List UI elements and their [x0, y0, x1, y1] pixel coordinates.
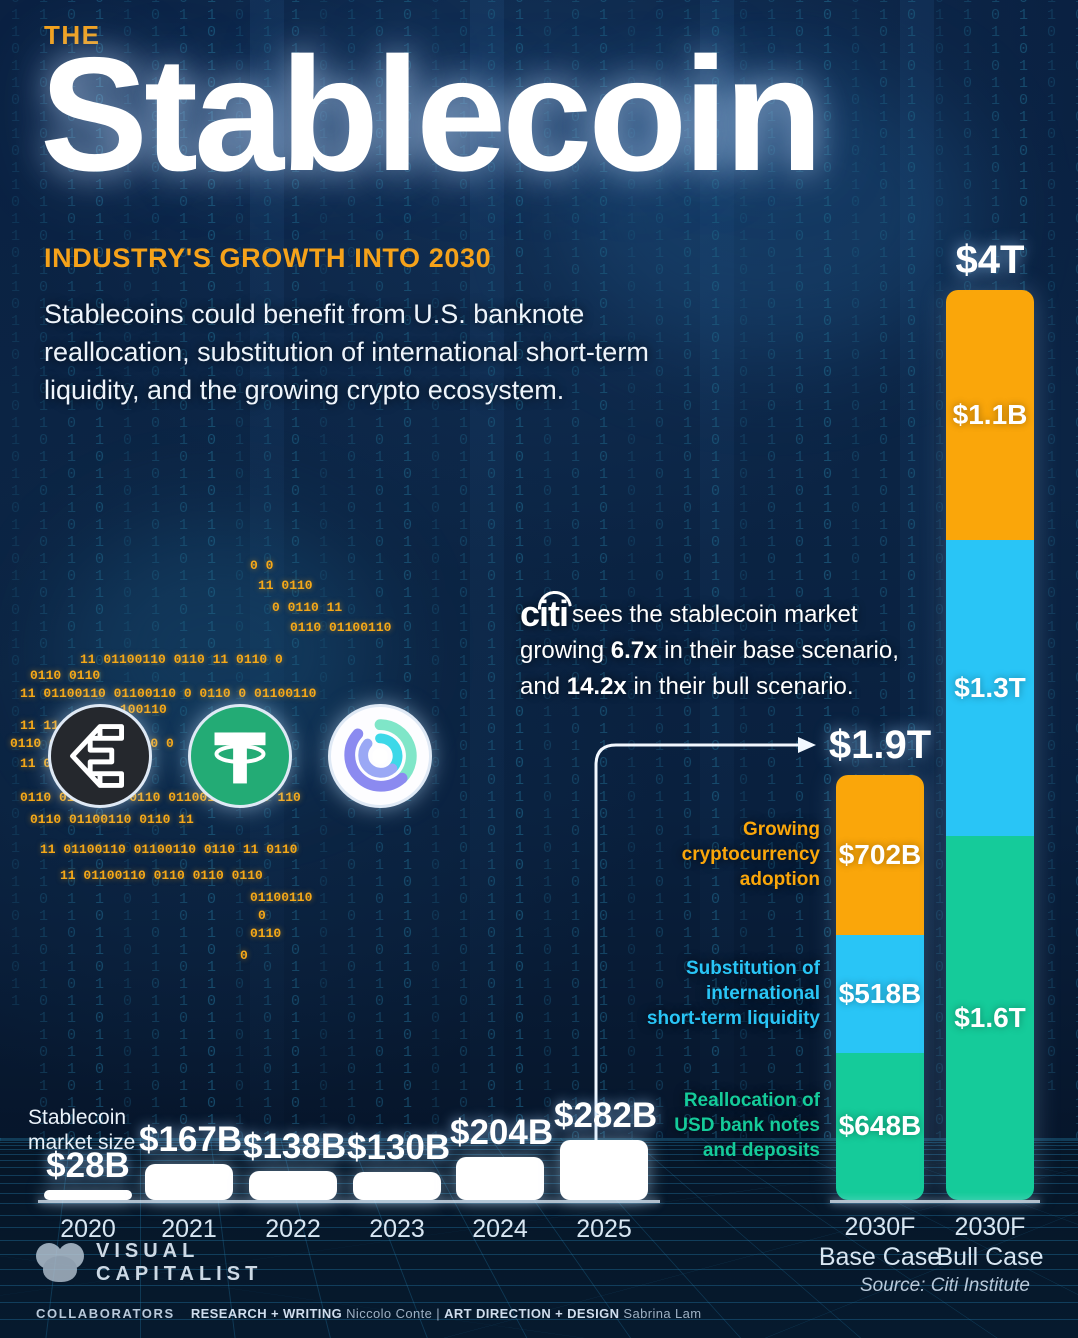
legend-label-line1: Reallocation of	[684, 1090, 820, 1111]
ethena-usde-logo-icon	[48, 704, 152, 808]
callout-line3-pre: and	[520, 673, 567, 700]
intro-blurb: Stablecoins could benefit from U.S. bank…	[44, 295, 694, 409]
table-row	[145, 1164, 233, 1200]
table-row	[44, 1190, 132, 1200]
bar-segment: $518B	[836, 935, 924, 1053]
research-name: Niccolo Conte	[346, 1306, 432, 1321]
visual-capitalist-logo: VISUAL CAPITALIST	[36, 1240, 262, 1286]
table-row	[249, 1171, 337, 1200]
bar-segment: $1.1B	[946, 290, 1034, 540]
legend-label-line3: and deposits	[703, 1140, 820, 1161]
segment-value-label: $518B	[839, 978, 922, 1010]
callout-line1: sees the stablecoin market	[572, 601, 857, 628]
legend-label-line2: international	[706, 983, 820, 1004]
design-name: Sabrina Lam	[623, 1306, 701, 1321]
forecast-baseline	[830, 1200, 1040, 1203]
bar-segment: $1.3T	[946, 540, 1034, 836]
forecast-axis-label: 2030FBull Case	[915, 1212, 1065, 1272]
bar-segment: $648B	[836, 1053, 924, 1200]
legend-label-line1: Substitution of	[686, 958, 820, 979]
legend-label-line1: Growing	[743, 819, 820, 840]
bar-value-label: $138B	[243, 1127, 343, 1167]
segment-value-label: $1.1B	[953, 399, 1028, 431]
legend-item: Growingcryptocurrencyadoption	[600, 817, 820, 892]
bar-total-label: $4T	[912, 238, 1068, 283]
bar-value-label: $28B	[38, 1146, 138, 1186]
chart-baseline	[38, 1200, 660, 1203]
credits-line: COLLABORATORS RESEARCH + WRITING Niccolo…	[36, 1306, 702, 1321]
stacked-bar-base-case: $702B$518B$648B	[836, 775, 924, 1200]
tether-usdt-logo-icon	[188, 704, 292, 808]
page-title: Stablecoin	[40, 40, 819, 190]
stacked-bar-bull-case: $1.1B$1.3T$1.6T	[946, 290, 1034, 1200]
callout-line2-pre: growing	[520, 637, 611, 664]
collaborators-label: COLLABORATORS	[36, 1306, 175, 1321]
x-axis-label: 2025	[554, 1215, 654, 1244]
table-row	[353, 1172, 441, 1200]
legend-item: Substitution ofinternationalshort-term l…	[600, 956, 820, 1031]
design-label: ART DIRECTION + DESIGN	[444, 1306, 619, 1321]
segment-value-label: $1.3T	[954, 672, 1026, 704]
page-subtitle: INDUSTRY'S GROWTH INTO 2030	[44, 243, 491, 274]
legend-label-line3: adoption	[740, 869, 820, 890]
callout-bull-multiple: 14.2x	[567, 673, 627, 700]
x-axis-label: 2024	[450, 1215, 550, 1244]
callout-base-multiple: 6.7x	[611, 637, 658, 664]
legend-item: Reallocation ofUSD bank notesand deposit…	[600, 1088, 820, 1163]
bar-value-label: $167B	[139, 1120, 239, 1160]
legend-label-line3: short-term liquidity	[647, 1008, 820, 1029]
segment-value-label: $702B	[839, 839, 922, 871]
brand-line-1: VISUAL	[96, 1240, 262, 1263]
legend-label-line2: USD bank notes	[674, 1115, 820, 1136]
segment-value-label: $648B	[839, 1110, 922, 1142]
usd-coin-usdc-logo-icon	[328, 704, 432, 808]
bar-value-label: $204B	[450, 1113, 550, 1153]
segment-value-label: $1.6T	[954, 1002, 1026, 1034]
bar-value-label: $130B	[347, 1128, 447, 1168]
brand-line-2: CAPITALIST	[96, 1263, 262, 1286]
infographic-root: 0110110110110110110110110110110110110110…	[0, 0, 1078, 1338]
citi-logo: citi	[520, 596, 568, 632]
table-row	[456, 1157, 544, 1200]
callout-line3-post: in their bull scenario.	[627, 673, 854, 700]
source-note: Source: Citi Institute	[700, 1275, 1030, 1297]
x-axis-label: 2023	[347, 1215, 447, 1244]
bar-segment: $1.6T	[946, 836, 1034, 1200]
research-label: RESEARCH + WRITING	[191, 1306, 342, 1321]
bar-total-label: $1.9T	[802, 723, 958, 768]
citi-callout: citisees the stablecoin market growing 6…	[520, 596, 950, 705]
bar-segment: $702B	[836, 775, 924, 935]
legend-label-line2: cryptocurrency	[682, 844, 820, 865]
credits-divider: |	[436, 1306, 440, 1321]
callout-line2-post: in their base scenario,	[657, 637, 898, 664]
binoculars-icon	[36, 1243, 84, 1283]
